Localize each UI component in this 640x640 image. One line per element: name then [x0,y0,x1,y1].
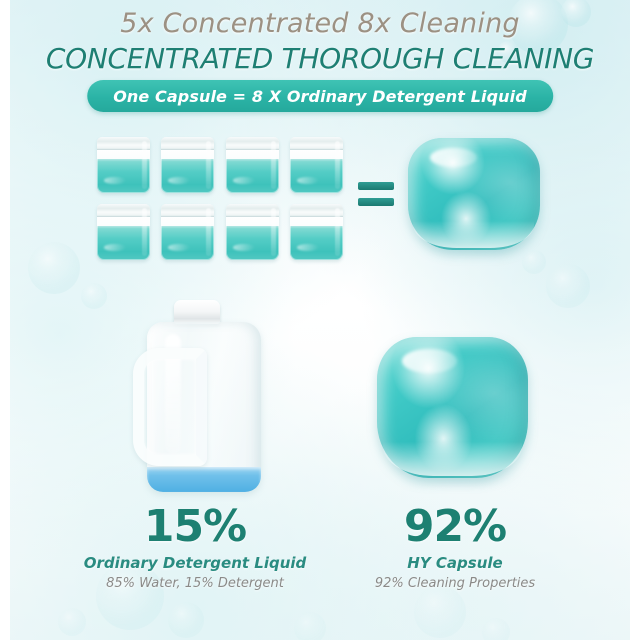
detergent-cup [226,137,279,193]
pod-body [377,337,528,479]
pod-lip [383,419,522,476]
detergent-cup [226,204,279,260]
detergent-cup [290,137,343,193]
stat-ordinary-detergent: 15% Ordinary Detergent Liquid 85% Water,… [60,505,330,591]
detergent-pod-top [400,133,550,263]
stat-value: 15% [60,505,330,549]
equals-icon [358,182,394,208]
cup-sheen [335,208,340,256]
detergent-cups-grid [96,137,344,260]
equals-bar-top [358,182,394,190]
pod-lip [413,203,534,248]
detergent-cup [97,137,150,193]
detergent-cup [97,204,150,260]
detergent-cup [161,204,214,260]
cup-sheen [142,141,147,189]
pod-gloss-highlight [402,349,456,373]
bottle-cap [174,300,220,324]
detergent-cup [290,204,343,260]
stat-hy-capsule: 92% HY Capsule 92% Cleaning Properties [320,505,590,591]
bottle-liquid-fill [147,467,261,493]
cup-sheen [335,141,340,189]
stat-label: Ordinary Detergent Liquid [60,554,330,572]
equals-bar-bottom [358,198,394,206]
product-infographic: 5x Concentrated 8x Cleaning CONCENTRATED… [0,0,640,640]
bottle-handle [133,348,207,466]
cup-sheen [271,208,276,256]
pod-gloss-highlight [430,148,478,167]
detergent-cup [161,137,214,193]
pod-body [408,138,540,250]
stat-value: 92% [320,505,590,549]
detergent-pod-bottom [368,330,540,495]
headline-main: CONCENTRATED THOROUGH CLEANING [0,42,640,75]
cup-sheen [142,208,147,256]
detergent-bottle [133,300,261,492]
headline-italic: 5x Concentrated 8x Cleaning [0,8,640,39]
stat-subtitle: 85% Water, 15% Detergent [60,576,330,591]
cup-sheen [271,141,276,189]
banner-pill: One Capsule = 8 X Ordinary Detergent Liq… [87,80,553,112]
stat-label: HY Capsule [320,554,590,572]
cup-sheen [206,208,211,256]
banner-pill-text: One Capsule = 8 X Ordinary Detergent Liq… [113,87,527,106]
stat-subtitle: 92% Cleaning Properties [320,576,590,591]
cup-sheen [206,141,211,189]
